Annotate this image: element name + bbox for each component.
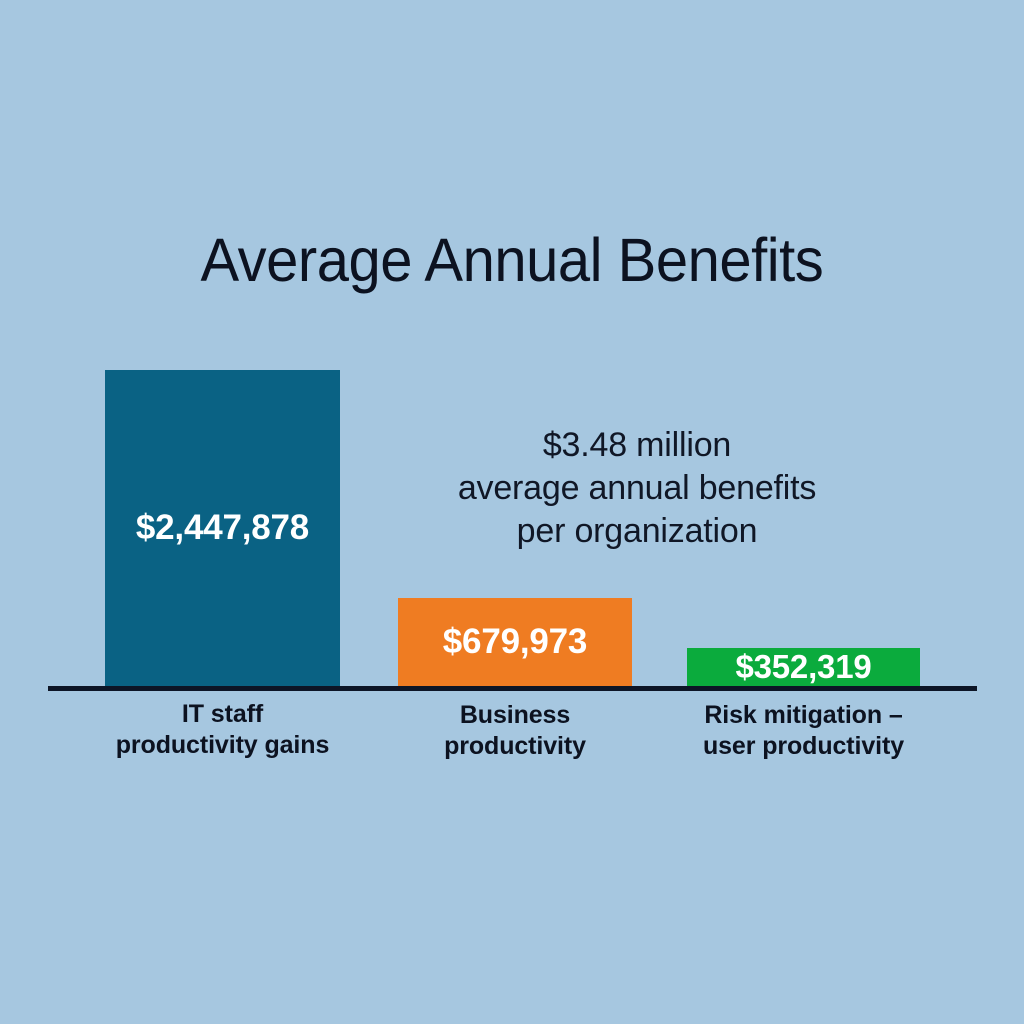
- total-benefits-annotation: $3.48 million average annual benefits pe…: [437, 424, 837, 552]
- chart-canvas: Average Annual Benefits $2,447,878 $679,…: [0, 0, 1024, 1024]
- category-label-line: user productivity: [672, 731, 935, 762]
- bar-business-productivity[interactable]: $679,973: [398, 598, 632, 688]
- category-label-line: productivity gains: [75, 730, 370, 761]
- category-label-line: Risk mitigation –: [672, 700, 935, 731]
- category-label-risk-mitigation-user-productivity: Risk mitigation – user productivity: [672, 700, 935, 761]
- bar-value-label: $679,973: [443, 622, 587, 662]
- category-axis-line: [48, 686, 977, 691]
- category-label-it-staff-productivity-gains: IT staff productivity gains: [75, 699, 370, 760]
- annotation-line: average annual benefits: [437, 467, 837, 510]
- plot-area: $2,447,878 $679,973 $352,319 IT staff pr…: [0, 0, 1024, 1024]
- category-label-business-productivity: Business productivity: [380, 700, 650, 761]
- bar-value-label: $2,447,878: [136, 508, 309, 548]
- bar-risk-mitigation-user-productivity[interactable]: $352,319: [687, 648, 920, 688]
- annotation-line: $3.48 million: [437, 424, 837, 467]
- category-label-line: IT staff: [75, 699, 370, 730]
- bar-group-it-staff-productivity-gains[interactable]: $2,447,878: [105, 370, 340, 688]
- category-label-line: Business: [380, 700, 650, 731]
- bar-group-risk-mitigation-user-productivity[interactable]: $352,319: [687, 648, 920, 688]
- bar-it-staff-productivity-gains[interactable]: $2,447,878: [105, 370, 340, 688]
- category-label-line: productivity: [380, 731, 650, 762]
- bar-group-business-productivity[interactable]: $679,973: [398, 598, 632, 688]
- bar-value-label: $352,319: [735, 648, 871, 686]
- annotation-line: per organization: [437, 510, 837, 553]
